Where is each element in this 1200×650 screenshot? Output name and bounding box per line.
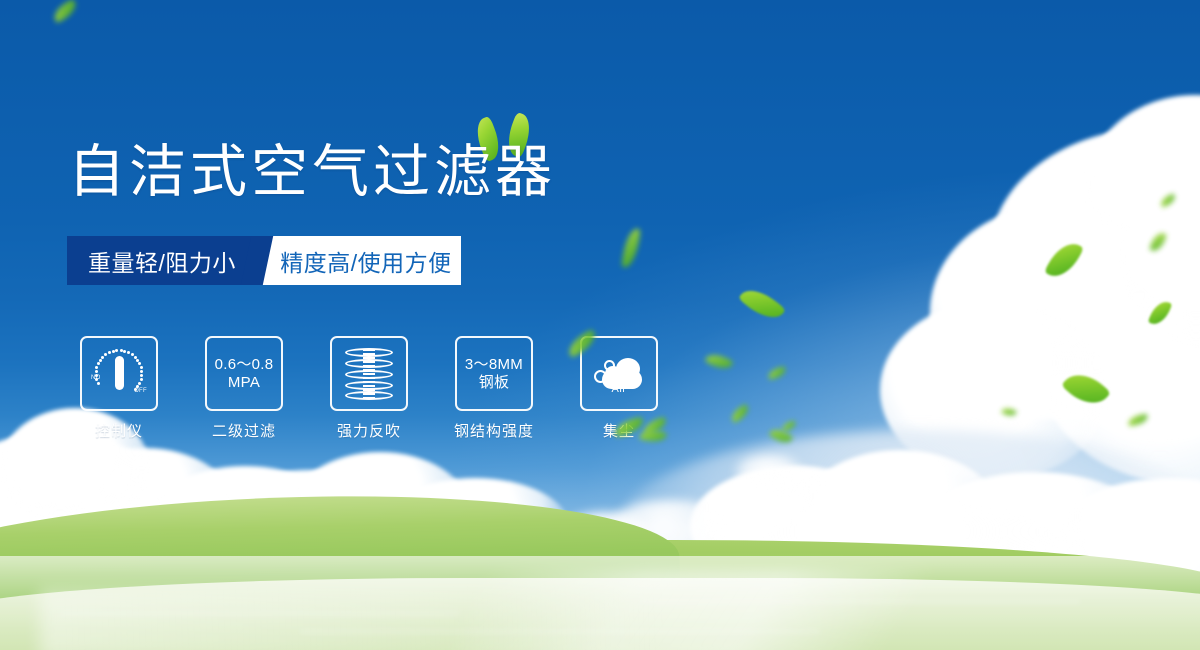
cloud-swirl bbox=[594, 370, 607, 383]
steel-plate-text-icon: 3～8MM 钢板 bbox=[465, 356, 523, 391]
dial-tick-dot bbox=[138, 362, 141, 365]
feature-icon-box: NO OFF bbox=[80, 336, 158, 411]
page-title: 自洁式空气过滤器 bbox=[68, 143, 556, 203]
pressure-text-icon: 0.6～0.8 MPA bbox=[215, 356, 274, 391]
feature-icon-box bbox=[330, 336, 408, 411]
dial-tick-dot bbox=[95, 374, 98, 377]
feature-item-dust-collection[interactable]: Air 集尘 bbox=[580, 336, 658, 441]
feature-item-backblow[interactable]: 强力反吹 bbox=[330, 336, 408, 441]
feature-item-controller[interactable]: NO OFF 控制仪 bbox=[80, 336, 158, 441]
dial-tick-dot bbox=[115, 349, 118, 352]
subtitle-primary-label: 重量轻/阻力小 bbox=[88, 244, 236, 278]
feature-label: 二级过滤 bbox=[212, 420, 276, 441]
dial-tick-dot bbox=[95, 366, 98, 369]
coil-ring bbox=[345, 381, 393, 390]
dial-tick-dot bbox=[140, 370, 143, 373]
grass-foreground bbox=[0, 578, 1200, 650]
feature-item-secondary-filter[interactable]: 0.6～0.8 MPA 二级过滤 bbox=[205, 336, 283, 441]
feature-label: 强力反吹 bbox=[337, 420, 401, 441]
air-label: Air bbox=[590, 383, 648, 395]
dial-tick-dot bbox=[108, 351, 111, 354]
cloud-swirl bbox=[604, 360, 615, 371]
feature-label: 钢结构强度 bbox=[454, 420, 534, 441]
subtitle-secondary-block: 精度高/使用方便 bbox=[257, 236, 461, 285]
dial-tick-dot bbox=[99, 359, 102, 362]
dial-tick-dot bbox=[140, 366, 143, 369]
dial-tick-dot bbox=[97, 362, 100, 365]
dial-tick-dot bbox=[97, 382, 100, 385]
coil-ring bbox=[345, 391, 393, 400]
subtitle-secondary-label: 精度高/使用方便 bbox=[280, 244, 451, 278]
dial-needle bbox=[115, 356, 124, 390]
feature-list: NO OFF 控制仪 0.6～0.8 MPA 二级过滤 bbox=[80, 336, 658, 441]
subtitle-primary-block: 重量轻/阻力小 bbox=[67, 236, 257, 285]
dial-tick-dot bbox=[123, 350, 126, 353]
dial-tick-dot bbox=[140, 374, 143, 377]
dial-tick-dot bbox=[95, 370, 98, 373]
dial-tick-dot bbox=[104, 353, 107, 356]
feature-icon-box: Air bbox=[580, 336, 658, 411]
dial-tick-dot bbox=[112, 350, 115, 353]
dial-tick-dot bbox=[140, 378, 143, 381]
feature-label: 控制仪 bbox=[95, 420, 143, 441]
coil-ring bbox=[345, 370, 393, 379]
control-dial-icon: NO OFF bbox=[90, 347, 148, 401]
feature-item-steel-strength[interactable]: 3～8MM 钢板 钢结构强度 bbox=[455, 336, 533, 441]
filter-coil-icon bbox=[344, 346, 394, 402]
feature-label: 集尘 bbox=[603, 420, 635, 441]
product-hero-banner: 自洁式空气过滤器 重量轻/阻力小 精度高/使用方便 NO OFF 控制仪 0.6 bbox=[0, 0, 1200, 650]
coil-ring bbox=[345, 359, 393, 368]
feature-icon-box: 0.6～0.8 MPA bbox=[205, 336, 283, 411]
dial-tick-dot bbox=[101, 356, 104, 359]
dial-tick-dot bbox=[127, 351, 130, 354]
subtitle-bar: 重量轻/阻力小 精度高/使用方便 bbox=[67, 236, 461, 285]
coil-ring bbox=[345, 348, 393, 357]
dial-tick-dot bbox=[120, 349, 123, 352]
dial-tick-dot bbox=[138, 382, 141, 385]
air-cloud-icon: Air bbox=[590, 354, 648, 394]
feature-icon-box: 3～8MM 钢板 bbox=[455, 336, 533, 411]
